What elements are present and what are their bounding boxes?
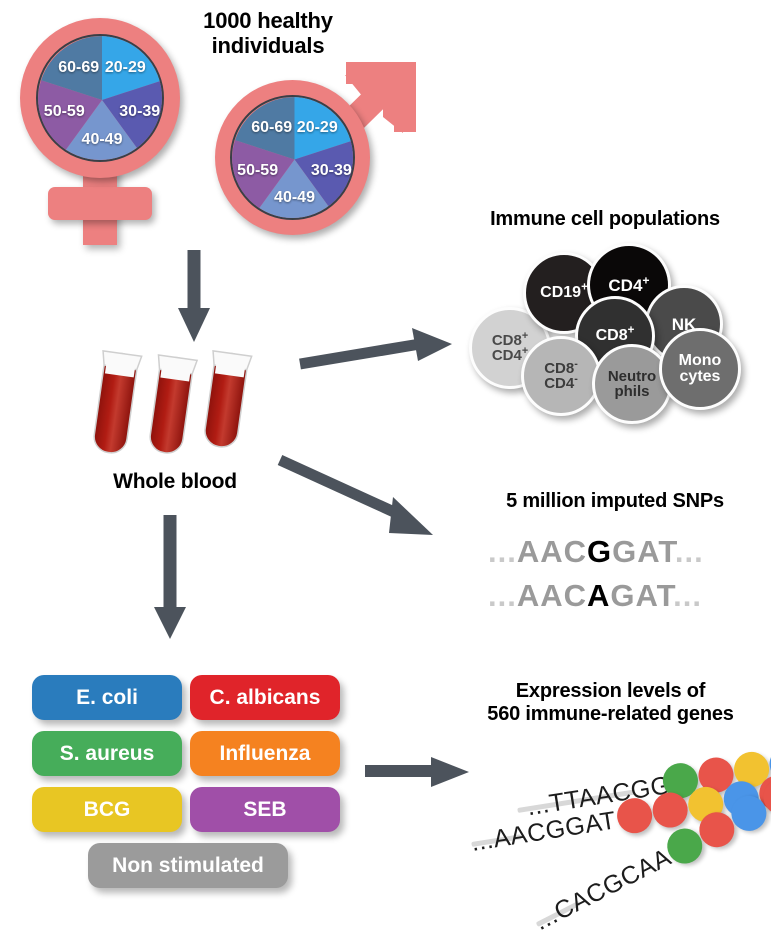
stimulus-label: C. albicans <box>210 686 321 710</box>
stimulus-s-aureus[interactable]: S. aureus <box>32 731 182 776</box>
arrow-blood-to-stimuli <box>150 515 200 640</box>
cell-label: Neutrophils <box>608 369 656 399</box>
female-symbol-cross <box>48 187 152 220</box>
pie-slice-label: 30-39 <box>311 162 352 180</box>
snp-line-1: ...AACGGAT... <box>488 534 704 570</box>
stimulus-label: BCG <box>84 798 131 822</box>
stimulus-label: E. coli <box>76 686 138 710</box>
blood-tubes <box>95 340 270 465</box>
cell-label: CD8+ <box>596 328 635 344</box>
pie-slice-label: 40-49 <box>82 131 123 149</box>
expression-title-line2: 560 immune-related genes <box>458 703 763 726</box>
cell-label: CD4+ <box>608 277 649 294</box>
stimulus-c-albicans[interactable]: C. albicans <box>190 675 340 720</box>
whole-blood-label: Whole blood <box>60 470 290 494</box>
stimulus-label: Influenza <box>219 742 310 766</box>
snp-line-2: ...AACAGAT... <box>488 578 702 614</box>
female-symbol: 20-2930-3940-4950-5960-69 <box>10 10 210 240</box>
cell-label: CD8+CD4+ <box>492 333 528 363</box>
expression-title-line1: Expression levels of <box>458 680 763 703</box>
immune-cell-title: Immune cell populations <box>450 208 760 231</box>
pie-slice-label: 50-59 <box>237 162 278 180</box>
pie-slice-label: 50-59 <box>44 103 85 121</box>
stimulus-e-coli[interactable]: E. coli <box>32 675 182 720</box>
arrow-blood-to-immune-cells <box>300 322 460 370</box>
stimulus-non-stimulated[interactable]: Non stimulated <box>88 843 288 888</box>
pie-slice-label: 30-39 <box>119 103 160 121</box>
stimuli-panel: E. coli C. albicans S. aureus Influenza … <box>32 675 342 895</box>
cell-label: CD8-CD4- <box>544 361 578 391</box>
cell-cd8n-cd4n: CD8-CD4- <box>521 336 601 416</box>
arrow-blood-to-snps <box>265 425 455 545</box>
pie-slice-label: 40-49 <box>274 189 315 207</box>
pie-slice-label: 60-69 <box>251 119 292 137</box>
gene-strand-3-bases: ...CACGCAA <box>530 843 676 937</box>
snp-title: 5 million imputed SNPs <box>470 490 760 513</box>
pie-slice-label: 20-29 <box>105 59 146 77</box>
expression-title: Expression levels of 560 immune-related … <box>458 680 763 726</box>
stimulus-seb[interactable]: SEB <box>190 787 340 832</box>
stimulus-label: S. aureus <box>60 742 155 766</box>
immune-cell-cluster: CD8+CD4+ CD19+ CD4+ NK CD8+ CD8-CD4- Neu… <box>455 240 755 415</box>
cell-label: Monocytes <box>679 353 722 385</box>
pie-slice-label: 60-69 <box>58 59 99 77</box>
stimulus-label: SEB <box>243 798 286 822</box>
female-age-pie: 20-2930-3940-4950-5960-69 <box>36 34 164 162</box>
male-age-pie: 20-2930-3940-4950-5960-69 <box>230 95 355 220</box>
stimulus-bcg[interactable]: BCG <box>32 787 182 832</box>
stimulus-influenza[interactable]: Influenza <box>190 731 340 776</box>
cell-monocytes: Monocytes <box>659 328 741 410</box>
stimulus-label: Non stimulated <box>112 854 264 878</box>
male-symbol: 20-2930-3940-4950-5960-69 <box>205 55 420 255</box>
pie-slice-label: 20-29 <box>297 119 338 137</box>
cell-label: CD19+ <box>540 285 588 301</box>
gene-strands: ...TTAACGG ...AACGGAT ...CACGCAA <box>440 745 771 920</box>
snp-sequences: ...AACGGAT... ...AACAGAT... <box>488 530 748 625</box>
